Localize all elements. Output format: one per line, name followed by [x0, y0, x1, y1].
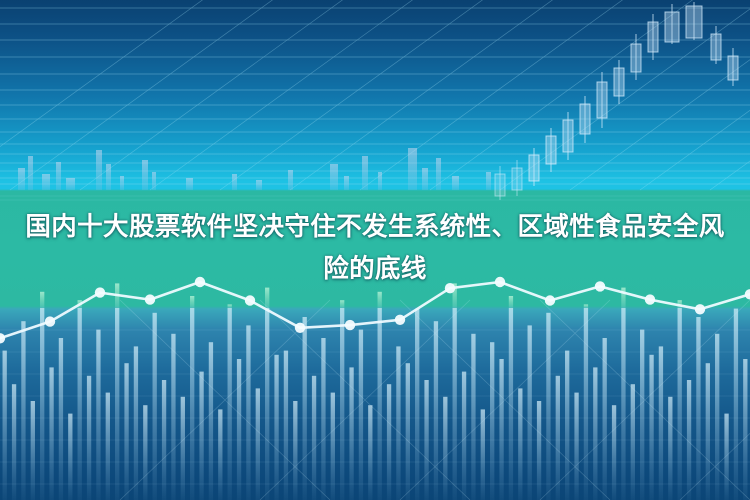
page-title: 国内十大股票软件坚决守住不发生系统性、区域性食品安全风 险的底线: [0, 206, 750, 290]
title-line-1: 国内十大股票软件坚决守住不发生系统性、区域性食品安全风: [0, 206, 750, 248]
banner-image: 国内十大股票软件坚决守住不发生系统性、区域性食品安全风 险的底线: [0, 0, 750, 500]
title-line-2: 险的底线: [0, 248, 750, 290]
